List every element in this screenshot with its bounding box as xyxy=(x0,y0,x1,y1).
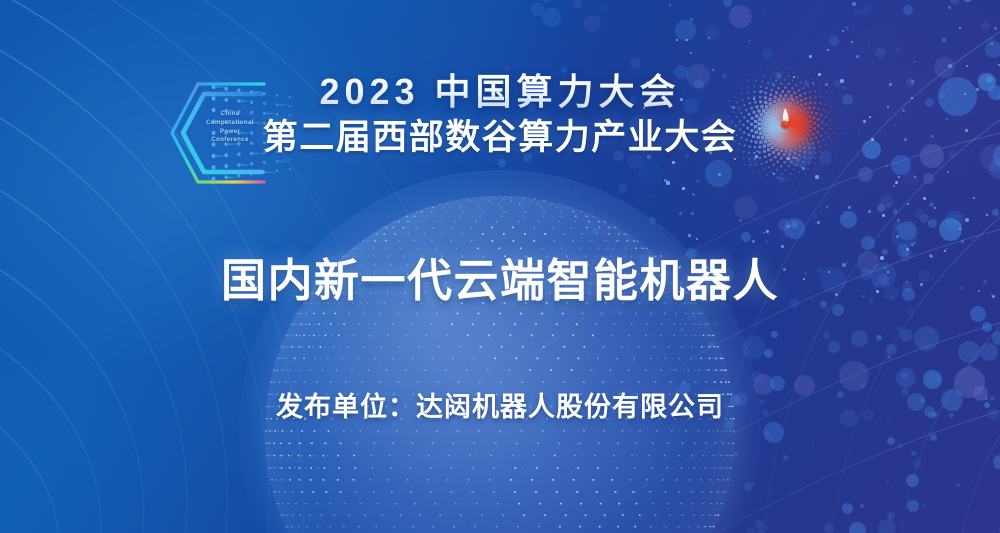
poster-main-title: 国内新一代云端智能机器人 xyxy=(0,244,1000,309)
globe-glow xyxy=(239,170,761,533)
conference-heading-line-2: 第二届西部数谷算力产业大会 xyxy=(0,118,1000,157)
conference-poster: China Computational Power Conference 202… xyxy=(0,0,1000,533)
heading-block: 2023 中国算力大会 第二届西部数谷算力产业大会 xyxy=(0,72,1000,158)
poster-publisher-line: 发布单位：达闼机器人股份有限公司 xyxy=(0,385,1000,424)
conference-heading-line-1: 2023 中国算力大会 xyxy=(319,72,680,112)
